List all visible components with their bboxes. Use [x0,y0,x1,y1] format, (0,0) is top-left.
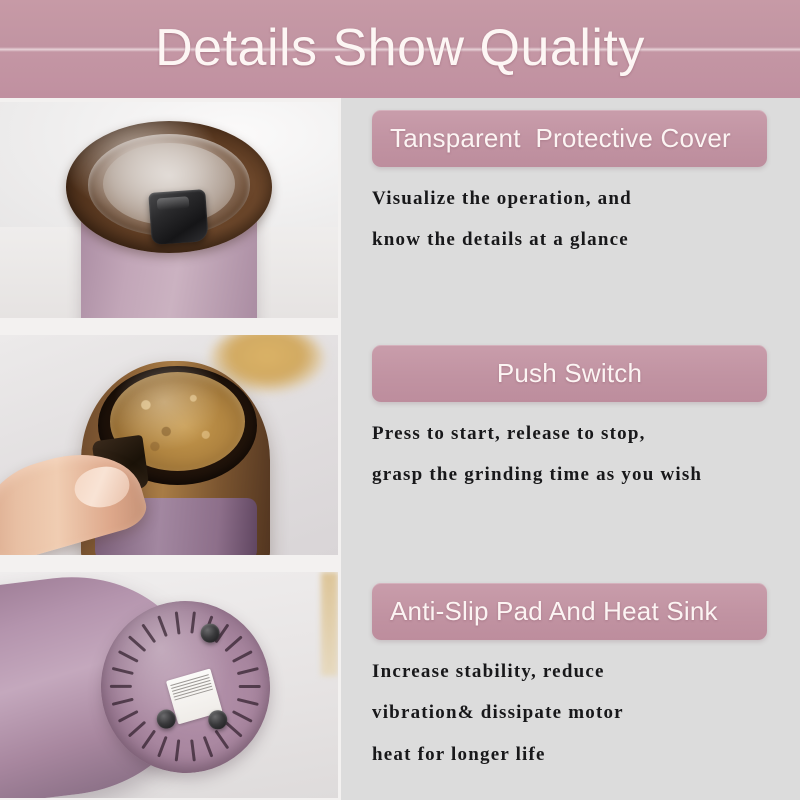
heat-sink-vent [225,721,244,738]
feature-description-line: Increase stability, reduce [372,654,767,689]
feature-title-bar: Anti-Slip Pad And Heat Sink [372,583,767,640]
heat-sink-vent [110,686,132,689]
feature-description-line: grasp the grinding time as you wish [372,457,767,492]
heat-sink-vent [112,699,134,707]
heat-sink-vent [232,711,253,724]
heat-sink-vent [158,736,168,758]
feature-description: Visualize the operation, and know the de… [372,181,767,257]
fingernail [72,464,132,512]
feature-block-anti-slip-pad: Anti-Slip Pad And Heat Sink Increase sta… [372,583,767,778]
product-photo-push-switch [0,335,338,555]
feature-description-line: vibration& dissipate motor [372,695,767,730]
push-switch [149,189,210,245]
heat-sink-vent [191,612,196,634]
product-photo-column [0,98,341,800]
heat-sink-vent [191,740,196,762]
heat-sink-vent [119,711,140,724]
heat-sink-vent [158,616,168,638]
heat-sink-vent [118,651,139,664]
feature-block-push-switch: Push Switch Press to start, release to s… [372,345,767,499]
feature-title-bar: Tansparent Protective Cover [372,110,767,167]
page-title: Details Show Quality [155,22,645,74]
heat-sink-vent [142,730,157,750]
header-banner: Details Show Quality [0,0,800,98]
heat-sink-vent [237,698,259,706]
feature-description-line: heat for longer life [372,737,767,772]
heat-sink-vent [112,668,134,676]
heat-sink-vent [225,636,243,653]
anti-slip-pad [208,710,229,731]
feature-title: Anti-Slip Pad And Heat Sink [390,598,749,625]
product-photo-base-heat-sink [0,572,338,798]
feature-title: Push Switch [390,360,749,387]
product-detail-infographic: Details Show Quality [0,0,800,800]
feature-description-line: know the details at a glance [372,222,767,257]
feature-description-line: Visualize the operation, and [372,181,767,216]
heat-sink-vent [128,636,147,653]
product-photo-transparent-cover [0,102,338,318]
heat-sink-vent [175,612,180,634]
heat-sink-vent [215,730,230,750]
heat-sink-vent [142,624,157,644]
feature-description: Press to start, release to stop, grasp t… [372,416,767,492]
feature-block-transparent-cover: Tansparent Protective Cover Visualize th… [372,110,767,264]
heat-sink-vent [203,736,213,758]
background-warm-strip [321,572,338,676]
feature-title-bar: Push Switch [372,345,767,402]
heat-sink-vent [232,651,253,664]
feature-title: Tansparent Protective Cover [390,125,749,152]
heat-sink-vent [129,721,147,738]
heat-sink-vent [239,686,261,689]
heat-sink-vent [176,740,181,762]
feature-description: Increase stability, reduce vibration& di… [372,654,767,771]
heat-sink-vent [237,668,259,676]
feature-description-line: Press to start, release to stop, [372,416,767,451]
feature-text-column: Tansparent Protective Cover Visualize th… [345,98,800,800]
